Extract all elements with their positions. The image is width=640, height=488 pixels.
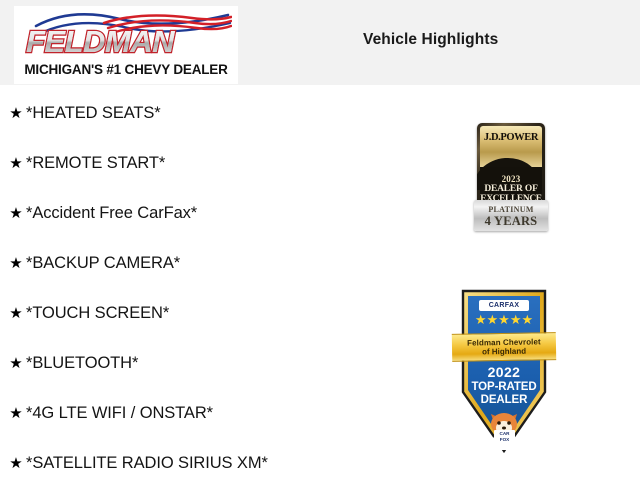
dealer-logo[interactable]: FELDMAN FELDMAN MICHIGAN'S #1 CHEVY DEAL…: [14, 6, 238, 84]
highlight-label: *BLUETOOTH*: [26, 354, 138, 373]
highlight-label: *HEATED SEATS*: [26, 104, 161, 123]
highlight-label: *BACKUP CAMERA*: [26, 254, 180, 273]
svg-text:FELDMAN: FELDMAN: [26, 24, 175, 59]
star-bullet-icon: ★: [6, 356, 26, 371]
logo-tagline: MICHIGAN'S #1 CHEVY DEALER: [14, 62, 238, 77]
carfax-fox-icon: [484, 406, 524, 450]
header-band: FELDMAN FELDMAN MICHIGAN'S #1 CHEVY DEAL…: [0, 0, 640, 85]
carfax-fox-tag-line2: FOX: [500, 437, 509, 442]
highlight-label: *REMOTE START*: [26, 154, 165, 173]
jdpower-duration-label: 4 YEARS: [474, 214, 548, 229]
carfax-award-line1: TOP-RATED: [455, 381, 553, 393]
carfax-top-rated-dealer-badge: CARFAX ★★★★★ Feldman Chevrolet of Highla…: [455, 288, 553, 454]
list-item: ★ *Accident Free CarFax*: [0, 188, 430, 238]
vehicle-highlights-list: ★ *HEATED SEATS* ★ *REMOTE START* ★ *Acc…: [0, 88, 430, 488]
jdpower-award-line1: DEALER OF: [480, 184, 542, 194]
list-item: ★ *SATELLITE RADIO SIRIUS XM*: [0, 438, 430, 488]
list-item: ★ *BLUETOOTH*: [0, 338, 430, 388]
logo-wordmark: FELDMAN FELDMAN: [20, 24, 232, 60]
jdpower-brand-label: J.D.POWER: [477, 132, 545, 143]
star-bullet-icon: ★: [6, 206, 26, 221]
carfax-logo: CARFAX: [479, 300, 529, 311]
list-item: ★ *REMOTE START*: [0, 138, 430, 188]
page-title: Vehicle Highlights: [363, 31, 498, 49]
carfax-dealer-ribbon: Feldman Chevrolet of Highland: [452, 332, 556, 362]
star-bullet-icon: ★: [6, 406, 26, 421]
highlight-label: *SATELLITE RADIO SIRIUS XM*: [26, 454, 268, 473]
highlight-label: *4G LTE WIFI / ONSTAR*: [26, 404, 213, 423]
jdpower-plate: J.D.POWER 2023 DEALER OF EXCELLENCE: [477, 123, 545, 211]
list-item: ★ *4G LTE WIFI / ONSTAR*: [0, 388, 430, 438]
carfax-star-rating: ★★★★★: [455, 313, 553, 326]
star-bullet-icon: ★: [6, 456, 26, 471]
star-bullet-icon: ★: [6, 106, 26, 121]
list-item: ★ *BACKUP CAMERA*: [0, 238, 430, 288]
list-item: ★ *HEATED SEATS*: [0, 88, 430, 138]
list-item: ★ *TOUCH SCREEN*: [0, 288, 430, 338]
carfax-fox-tag-line1: CAR: [500, 431, 510, 436]
carfax-dealer-name-line2: of Highland: [452, 346, 556, 357]
star-bullet-icon: ★: [6, 156, 26, 171]
carfax-award-line2: DEALER: [455, 394, 553, 406]
carfax-fox-tag: CAR FOX: [494, 430, 515, 443]
jdpower-tier-label: PLATINUM: [474, 205, 548, 214]
highlight-label: *Accident Free CarFax*: [26, 204, 197, 223]
star-bullet-icon: ★: [6, 306, 26, 321]
carfax-year: 2022: [455, 364, 553, 380]
highlight-label: *TOUCH SCREEN*: [26, 304, 169, 323]
jdpower-year: 2023: [480, 174, 542, 184]
jdpower-award-badge: J.D.POWER 2023 DEALER OF EXCELLENCE PLAT…: [474, 123, 548, 231]
star-bullet-icon: ★: [6, 256, 26, 271]
jdpower-silver-section: PLATINUM 4 YEARS: [474, 200, 548, 231]
